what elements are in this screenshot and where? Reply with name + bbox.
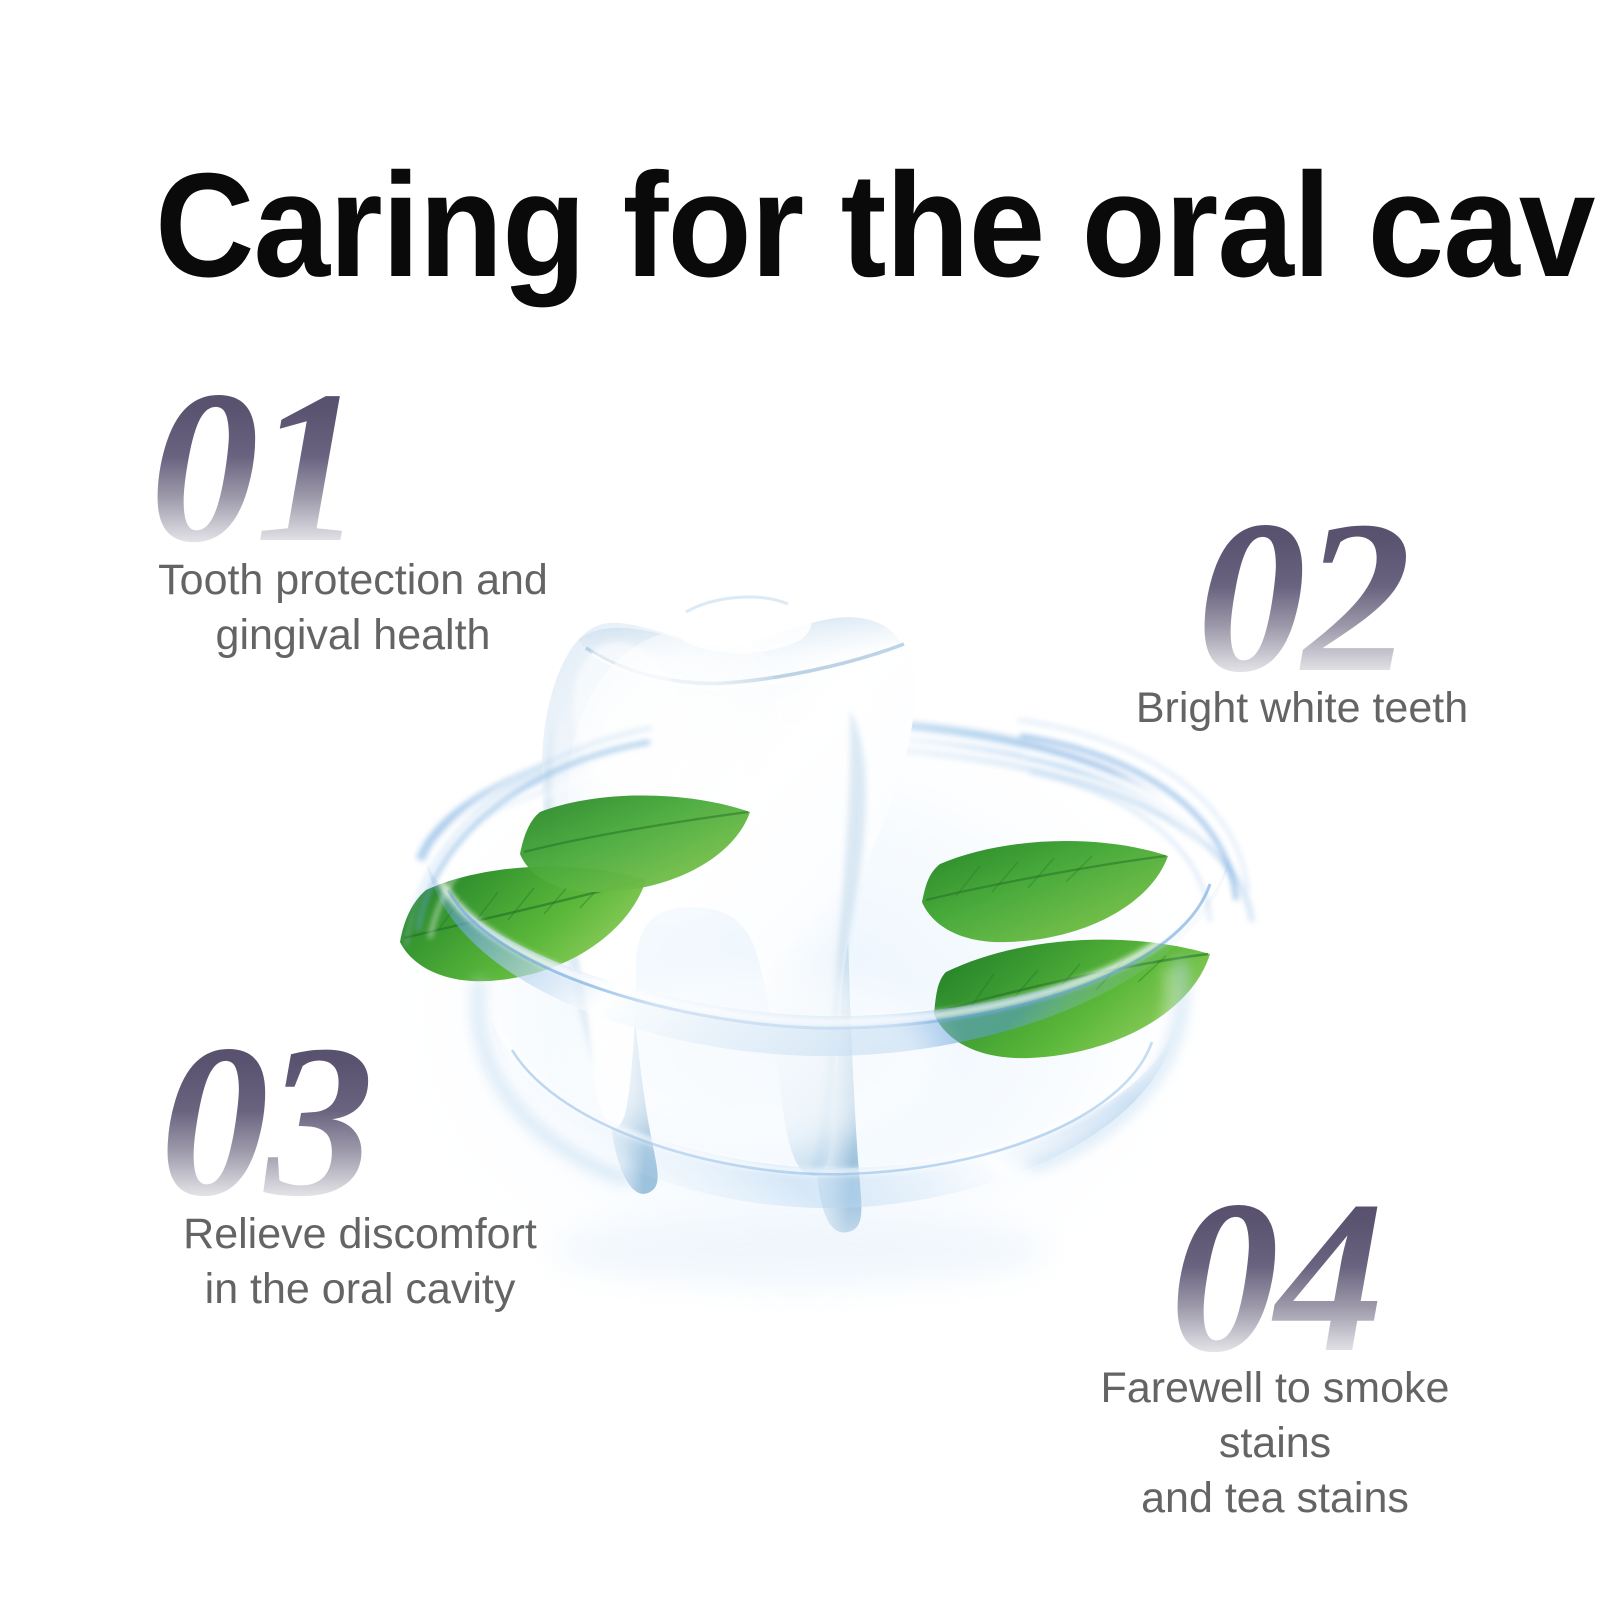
- feature-item-02: 02 Bright white teeth: [1092, 498, 1512, 736]
- feature-number-01: 01: [150, 368, 568, 569]
- feature-item-04: 04 Farewell to smoke stains and tea stai…: [1040, 1178, 1510, 1526]
- feature-number-04: 04: [1040, 1178, 1510, 1379]
- feature-item-01: 01 Tooth protection and gingival health: [138, 368, 568, 663]
- feature-caption-01: Tooth protection and gingival health: [138, 553, 568, 663]
- poster-canvas: Caring for the oral cavity: [0, 0, 1600, 1600]
- feature-caption-03: Relieve discomfort in the oral cavity: [150, 1207, 570, 1317]
- feature-caption-04: Farewell to smoke stains and tea stains: [1040, 1361, 1510, 1526]
- feature-number-03: 03: [160, 1022, 570, 1223]
- feature-item-03: 03 Relieve discomfort in the oral cavity: [150, 1022, 570, 1317]
- feature-number-02: 02: [1092, 498, 1512, 699]
- page-title: Caring for the oral cavity: [155, 152, 1383, 300]
- feature-caption-02: Bright white teeth: [1092, 681, 1512, 736]
